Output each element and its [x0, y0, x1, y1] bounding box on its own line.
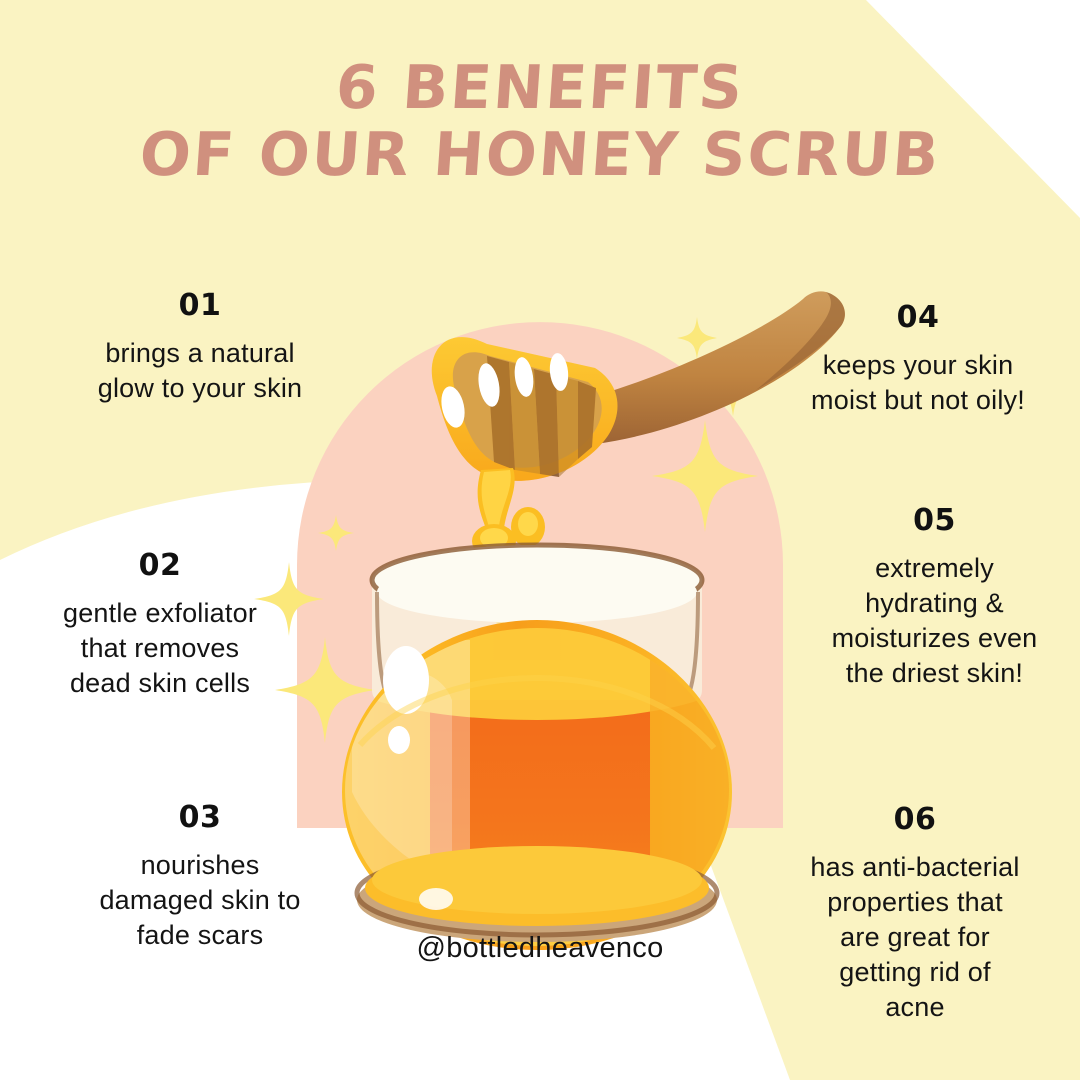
benefit-text-01: brings a natural glow to your skin [40, 336, 360, 406]
sparkle-star [318, 515, 354, 551]
benefit-text-05: extremely hydrating & moisturizes even t… [792, 551, 1077, 691]
jar-base [357, 846, 717, 942]
benefit-item-04: 04 keeps your skin moist but not oily! [772, 300, 1064, 418]
benefit-item-03: 03 nourishes damaged skin to fade scars [55, 800, 345, 953]
benefit-item-01: 01 brings a natural glow to your skin [40, 288, 360, 406]
benefit-number-05: 05 [792, 503, 1077, 538]
page-title: 6 Benefits of our Honey Scrub [0, 58, 1080, 186]
benefit-number-01: 01 [40, 288, 360, 323]
honey-dipper-head [432, 337, 618, 481]
benefit-number-04: 04 [772, 300, 1064, 335]
jar-highlight [388, 726, 410, 754]
benefit-item-05: 05 extremely hydrating & moisturizes eve… [792, 503, 1077, 691]
benefit-number-03: 03 [55, 800, 345, 835]
benefit-item-06: 06 has anti-bacterial properties that ar… [765, 802, 1065, 1025]
title-line-2: of our Honey Scrub [0, 125, 1080, 186]
title-line-1: 6 Benefits [0, 58, 1080, 119]
benefit-text-02: gentle exfoliator that removes dead skin… [10, 596, 310, 701]
social-handle: @bottledheavenco [0, 932, 1080, 965]
benefit-number-02: 02 [10, 548, 310, 583]
infographic-canvas: 6 Benefits of our Honey Scrub 01 brings … [0, 0, 1080, 1080]
sparkle-star [652, 420, 758, 532]
benefit-number-06: 06 [765, 802, 1065, 837]
benefit-text-04: keeps your skin moist but not oily! [772, 348, 1064, 418]
benefit-item-02: 02 gentle exfoliator that removes dead s… [10, 548, 310, 701]
